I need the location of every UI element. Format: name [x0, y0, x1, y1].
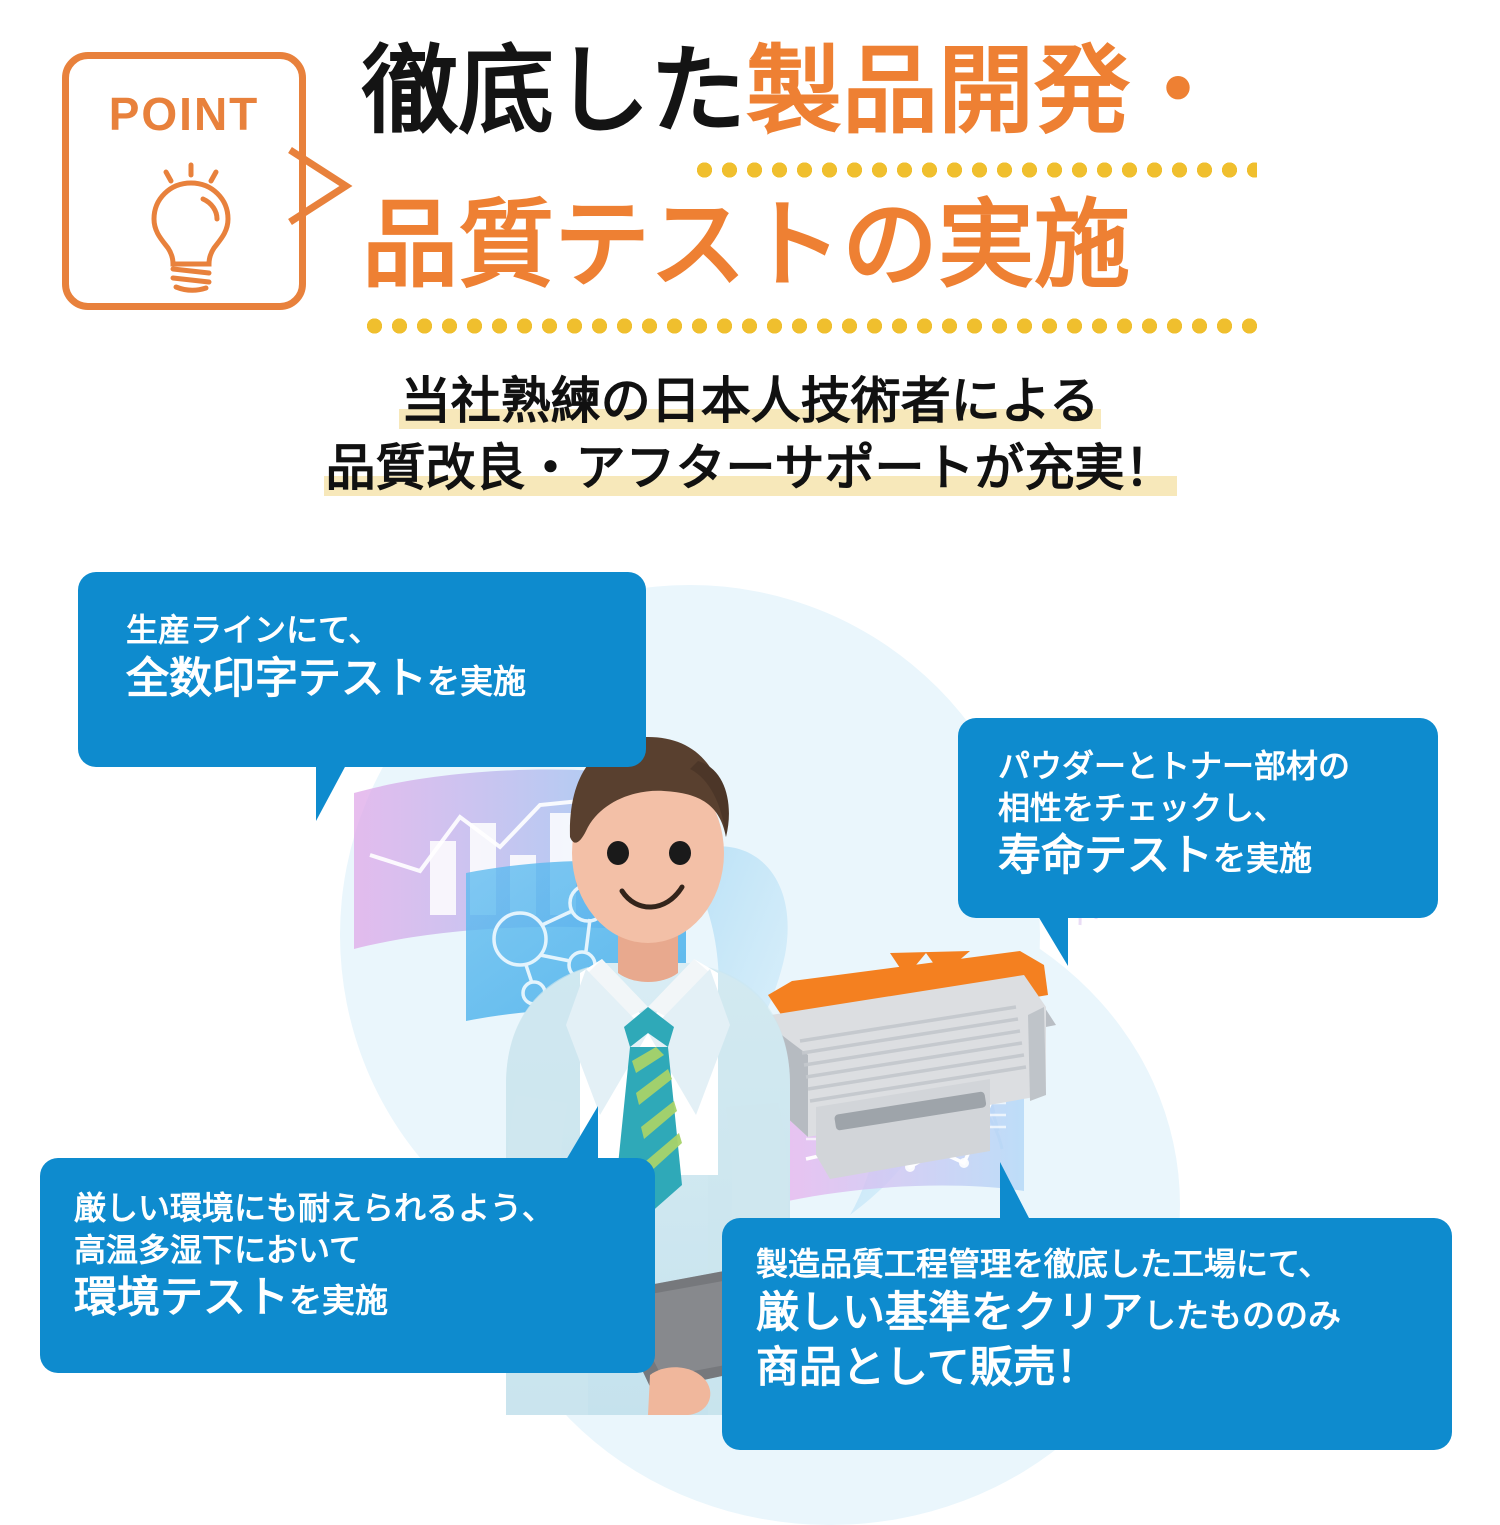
eye-left — [607, 841, 629, 865]
callout-bubble-life-test[interactable]: パウダーとトナー部材の 相性をチェックし、 寿命テストを実施 — [958, 718, 1438, 918]
bubble1-emphasis: 全数印字テスト — [126, 652, 427, 708]
callout-bubble-print-test[interactable]: 生産ラインにて、 全数印字テストを実施 — [78, 572, 646, 767]
bubble1-line2: 全数印字テストを実施 — [126, 652, 646, 708]
headline-line-1: 徹底した製品開発・ — [362, 44, 1362, 168]
bubble3-line1: 厳しい環境にも耐えられるよう、 — [74, 1188, 655, 1230]
subtitle-line-2: 品質改良・アフターサポートが充実！ — [0, 435, 1500, 502]
lightbulb-icon — [69, 147, 313, 297]
callout-bubble-environment-test[interactable]: 厳しい環境にも耐えられるよう、 高温多湿下において 環境テストを実施 — [40, 1158, 655, 1373]
bubble2-line3: 寿命テストを実施 — [998, 829, 1438, 885]
bubble2-line1: パウダーとトナー部材の — [998, 746, 1438, 788]
point-badge: POINT — [62, 52, 306, 310]
subtitle-line2-text: 品質改良・アフターサポートが充実！ — [324, 440, 1177, 496]
point-badge-tail-arrow — [288, 146, 358, 226]
bubble4-suffix: したもののみ — [1143, 1295, 1341, 1338]
subtitle: 当社熟練の日本人技術者による 品質改良・アフターサポートが充実！ — [0, 368, 1500, 502]
bubble1-line1: 生産ラインにて、 — [126, 610, 646, 652]
bubble3-suffix: を実施 — [289, 1280, 388, 1323]
headline-line-2: 品質テストの実施 — [362, 198, 1362, 322]
bubble4-line3: 商品として販売！ — [756, 1341, 1452, 1397]
headline-dotted-underline-2 — [362, 318, 1267, 334]
point-badge-label: POINT — [69, 87, 299, 141]
headline-line1-black: 徹底した — [362, 38, 746, 145]
bubble4-line1: 製造品質工程管理を徹底した工場にて、 — [756, 1244, 1452, 1286]
eye-right — [669, 841, 691, 865]
subtitle-line-1: 当社熟練の日本人技術者による — [0, 368, 1500, 435]
headline-dotted-underline-1 — [692, 162, 1257, 178]
bubble1-tail — [316, 765, 368, 821]
callout-bubble-factory-standard[interactable]: 製造品質工程管理を徹底した工場にて、 厳しい基準をクリアしたもののみ 商品として… — [722, 1218, 1452, 1450]
bubble2-line2: 相性をチェックし、 — [998, 788, 1438, 830]
bubble2-emphasis: 寿命テスト — [998, 829, 1213, 885]
bubble3-emphasis: 環境テスト — [74, 1271, 289, 1327]
bubble3-tail — [548, 1106, 598, 1160]
bubble4-emphasis: 厳しい基準をクリア — [756, 1286, 1143, 1342]
headline: 徹底した製品開発・ 品質テストの実施 — [362, 44, 1362, 322]
headline-line2-orange: 品質テストの実施 — [362, 192, 1130, 299]
bubble3-line3: 環境テストを実施 — [74, 1271, 655, 1327]
infographic-root: POINT 徹底した製品開発・ 品質テストの実施 当社熟練の日本人技術者による … — [0, 0, 1500, 1500]
subtitle-line1-text: 当社熟練の日本人技術者による — [399, 373, 1102, 429]
bubble2-tail — [1016, 916, 1068, 966]
bubble4-tail — [1000, 1162, 1052, 1220]
bubble2-suffix: を実施 — [1213, 838, 1312, 881]
bubble4-line2: 厳しい基準をクリアしたもののみ — [756, 1286, 1452, 1342]
headline-line1-orange: 製品開発・ — [746, 38, 1226, 145]
bubble1-suffix: を実施 — [427, 661, 526, 704]
bubble3-line2: 高温多湿下において — [74, 1230, 655, 1272]
